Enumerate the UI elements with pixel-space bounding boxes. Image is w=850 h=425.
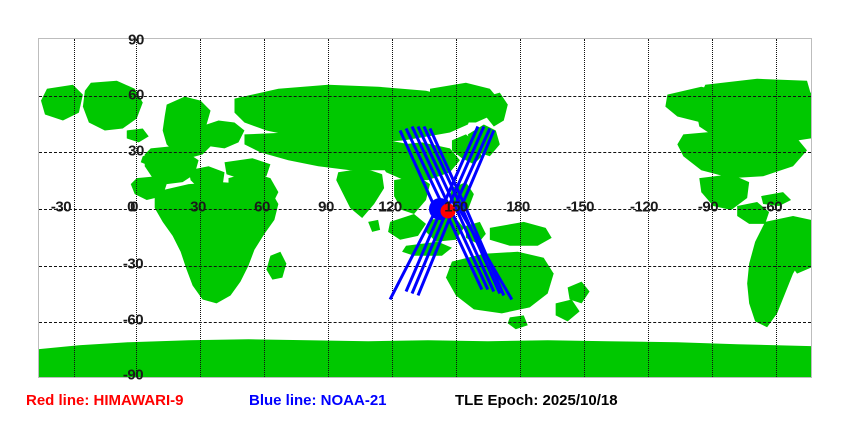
map-legend: Red line: HIMAWARI-9 Blue line: NOAA-21 … bbox=[0, 392, 850, 422]
himawari-9-position-marker[interactable] bbox=[441, 204, 456, 219]
satellite-markers-layer bbox=[39, 39, 811, 377]
map-plot-area bbox=[38, 38, 812, 378]
satellite-ground-track-map: -30 0 30 60 90 120 150 180 -150 -120 -90… bbox=[0, 0, 850, 425]
legend-tle-epoch: TLE Epoch: 2025/10/18 bbox=[455, 392, 618, 409]
legend-noaa-entry: Blue line: NOAA-21 bbox=[249, 392, 387, 409]
legend-himawari-entry: Red line: HIMAWARI-9 bbox=[26, 392, 184, 409]
